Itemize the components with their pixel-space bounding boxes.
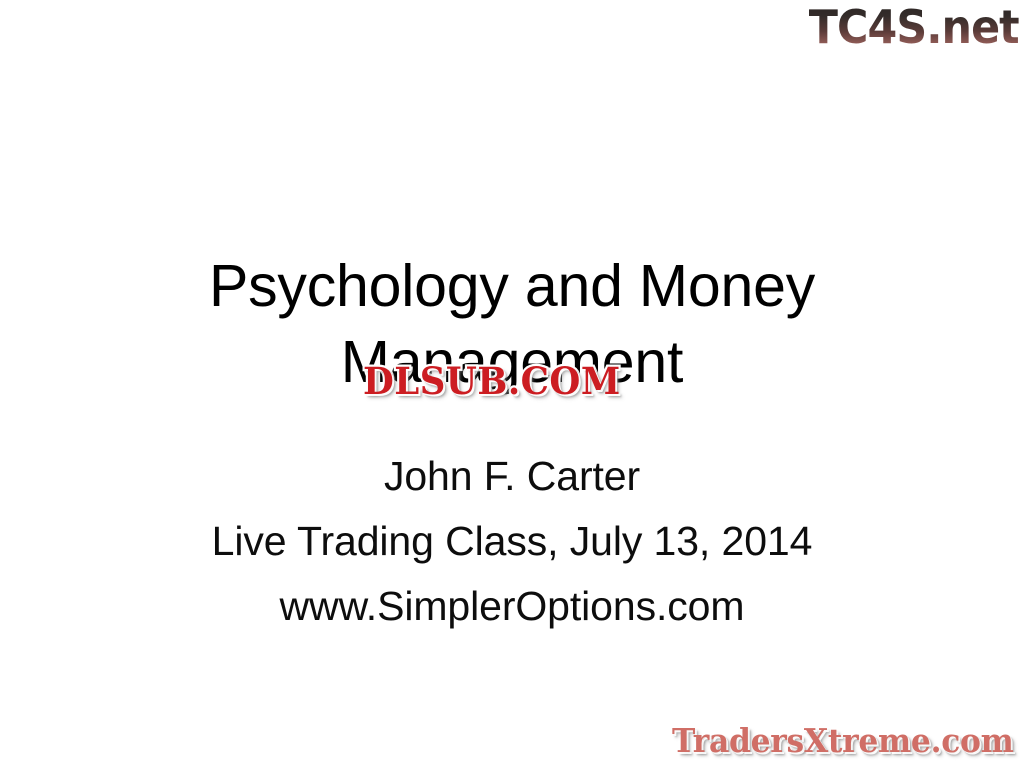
- watermark-tradersxtreme-com: TradersXtreme.com: [672, 720, 1014, 762]
- watermark-dlsub-com: DLSUB.COM: [363, 359, 621, 403]
- subtitle-line-author: John F. Carter: [112, 444, 912, 509]
- presentation-slide: Psychology and Money Management John F. …: [0, 0, 1024, 768]
- subtitle-line-event-date: Live Trading Class, July 13, 2014: [112, 509, 912, 574]
- subtitle-placeholder: John F. Carter Live Trading Class, July …: [112, 444, 912, 639]
- subtitle-line-website: www.SimplerOptions.com: [112, 574, 912, 639]
- watermark-tc4s-net: TC4S.net: [809, 2, 1019, 52]
